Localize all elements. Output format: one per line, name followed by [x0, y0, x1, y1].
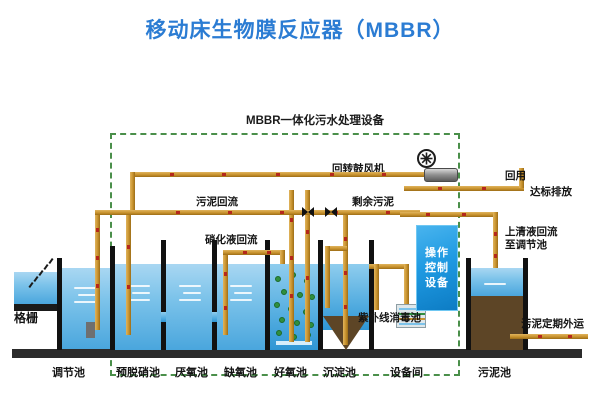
- tank-label-anaerobic: 厌氧池: [175, 364, 208, 380]
- tank-label-pre-denitrification: 预脱硝池: [116, 364, 160, 380]
- air-main-downleg: [130, 172, 135, 212]
- nitrification-return-top: [223, 250, 285, 255]
- rotary-blower-body: [424, 168, 458, 182]
- lift-pipe-vertical: [95, 210, 100, 330]
- inlet-channel-floor: [14, 304, 62, 311]
- discharge-label: 达标排放: [530, 186, 572, 198]
- ground-right: [460, 349, 582, 358]
- tank-label-anoxic: 缺氧池: [224, 364, 257, 380]
- treated-water-outlet-pipe: [404, 186, 524, 191]
- nitrification-return-label: 硝化液回流: [205, 234, 258, 246]
- sludge-tank-sludge: [471, 296, 523, 350]
- uv-label: 紫外线消毒池: [358, 312, 421, 324]
- tank-label-regulating: 调节池: [52, 364, 85, 380]
- tank-label-sedimentation: 沉淀池: [323, 364, 356, 380]
- sedimentation-sludge-draw-pipe: [343, 213, 348, 345]
- pre-denitrification-tank-water: [115, 264, 161, 350]
- anaerobic-tank-water: [166, 264, 212, 350]
- valve-1-icon: [302, 206, 314, 218]
- grating-icon: [28, 258, 62, 292]
- ground-center: [114, 349, 460, 358]
- control-panel-line-2: 控制: [425, 261, 449, 276]
- tank-label-aerobic: 好氧池: [274, 364, 307, 380]
- package-unit-label: MBBR一体化污水处理设备: [215, 112, 415, 128]
- sludge-haulage-label: 污泥定期外运: [521, 318, 584, 330]
- control-panel-line-1: 操作: [425, 246, 449, 261]
- supernatant-return-label-line1: 上清液回流: [505, 226, 558, 238]
- air-main-pipe: [130, 172, 424, 177]
- anoxic-transfer-port: [212, 312, 217, 322]
- sludge-haulage-pipe: [510, 334, 588, 339]
- tank-label-equipment-room: 设备间: [390, 364, 423, 380]
- sludge-return-label: 污泥回流: [196, 196, 238, 208]
- page-title: 移动床生物膜反应器（MBBR）: [0, 14, 600, 44]
- excess-sludge-label: 剩余污泥: [352, 196, 394, 208]
- sludge-tank-supernatant: [471, 268, 523, 296]
- pre-denitrification-feed-pipe: [126, 215, 131, 335]
- sedimentation-inlet-downleg: [325, 246, 330, 308]
- valve-2-icon: [325, 206, 337, 218]
- sludge-return-pipe: [130, 210, 420, 215]
- supernatant-return-label-line2: 至调节池: [505, 239, 547, 251]
- control-panel-line-3: 设备: [425, 276, 449, 291]
- tank-label-sludge: 污泥池: [478, 364, 511, 380]
- excess-sludge-downleg: [493, 212, 498, 272]
- diagram-canvas: 移动床生物膜反应器（MBBR） MBBR一体化污水处理设备 格栅: [0, 0, 600, 408]
- fan-icon: [417, 149, 436, 168]
- ground-left: [12, 349, 114, 358]
- control-panel[interactable]: 操作 控制 设备: [416, 225, 458, 311]
- nitrification-return-downleg: [223, 250, 228, 335]
- effluent-downleg: [374, 264, 379, 310]
- anaerobic-transfer-port: [161, 312, 166, 322]
- lift-pump: [86, 322, 95, 338]
- grating-label: 格栅: [14, 312, 38, 324]
- mbbr-carriers-group: [270, 264, 318, 350]
- reuse-label: 回用: [505, 170, 526, 182]
- excess-sludge-pipe: [400, 212, 498, 217]
